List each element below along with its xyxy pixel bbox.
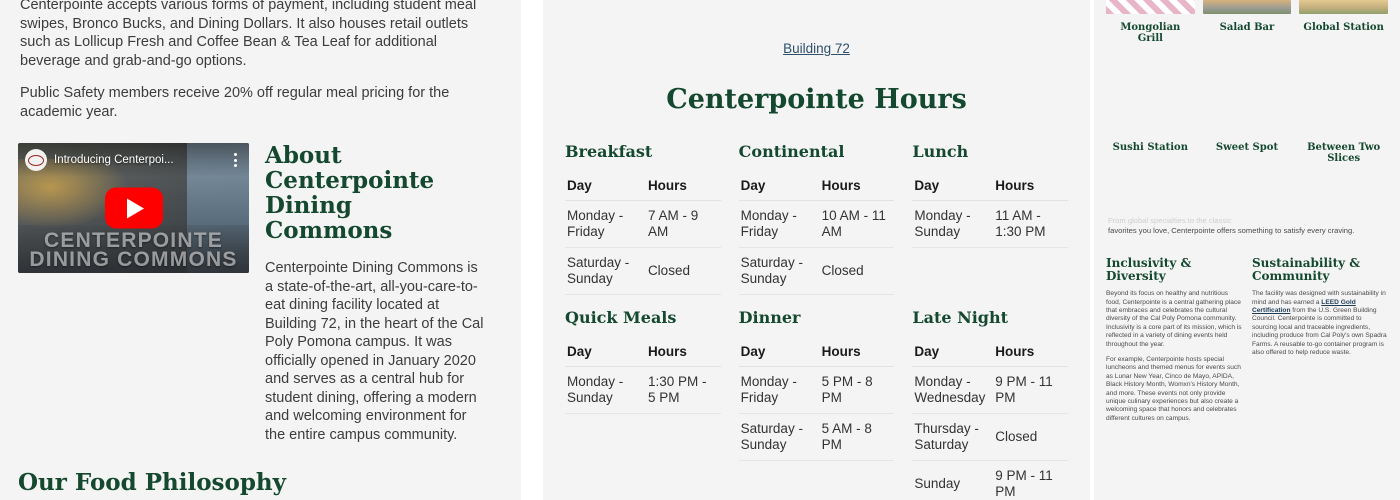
stations-blurb: From global specialties to the classic f… (1094, 216, 1400, 235)
food-philosophy-section: Our Food Philosophy (0, 470, 521, 495)
station-caption: Global Station (1299, 22, 1388, 33)
col-header-hours: Hours (820, 340, 895, 367)
table-row: Saturday - Sunday Closed (565, 248, 721, 295)
hours-table: Day Hours Monday - Friday 10 AM - 11 AM … (739, 174, 895, 295)
inclusivity-paragraph-2: For example, Centerpointe hosts special … (1106, 356, 1242, 423)
video-wordmark-line2: DINING COMMONS (18, 250, 249, 269)
col-header-day: Day (912, 340, 993, 367)
sustainability-text-after: from the U.S. Green Building Council. Ce… (1252, 307, 1387, 356)
cell-hours: 9 PM - 11 PM (993, 367, 1068, 414)
table-row: Monday - Friday 7 AM - 9 AM (565, 201, 721, 248)
video-wordmark: CENTERPOINTE DINING COMMONS (18, 231, 249, 269)
inclusivity-section: Inclusivity & Diversity Beyond its focus… (1106, 257, 1242, 430)
cell-day: Monday - Sunday (565, 367, 646, 414)
video-title: Introducing Centerpoi... (54, 154, 221, 166)
sustainability-title: Sustainability & Community (1252, 257, 1388, 283)
table-header-row: Day Hours (912, 174, 1068, 201)
table-row: Saturday - Sunday 5 AM - 8 PM (739, 414, 895, 461)
global-station-photo (1299, 0, 1388, 14)
table-row: Saturday - Sunday Closed (739, 248, 895, 295)
cell-day: Saturday - Sunday (565, 248, 646, 295)
cell-day: Monday - Friday (565, 201, 646, 248)
station-card[interactable]: Between Two Slices (1299, 142, 1388, 164)
col-header-hours: Hours (646, 174, 721, 201)
meal-block-lunch: Lunch Day Hours Monday - Sunday 11 AM - … (912, 143, 1068, 295)
channel-avatar-icon (25, 149, 47, 171)
play-icon[interactable] (105, 188, 163, 229)
about-body: Centerpointe Dining Commons is a state-o… (265, 259, 487, 444)
cell-day: Monday - Friday (739, 201, 820, 248)
meal-heading: Continental (739, 143, 895, 160)
table-row: Thursday - Saturday Closed (912, 414, 1068, 461)
table-row: Monday - Wednesday 9 PM - 11 PM (912, 367, 1068, 414)
table-header-row: Day Hours (739, 174, 895, 201)
sustainability-body: The facility was designed with sustainab… (1252, 290, 1388, 357)
video-wrapper: Introducing Centerpoi... CENTERPOINTE DI… (18, 143, 249, 444)
cell-day: Thursday - Saturday (912, 414, 993, 461)
lead-paragraph-public-safety: Public Safety members receive 20% off re… (20, 84, 501, 121)
cell-day: Monday - Wednesday (912, 367, 993, 414)
col-header-day: Day (565, 174, 646, 201)
table-header-row: Day Hours (565, 340, 721, 367)
sustainability-paragraph: The facility was designed with sustainab… (1252, 290, 1388, 357)
cell-day: Sunday (912, 461, 993, 500)
station-card[interactable]: Mongolian Grill (1106, 0, 1195, 44)
table-header-row: Day Hours (912, 340, 1068, 367)
values-columns: Inclusivity & Diversity Beyond its focus… (1094, 257, 1400, 430)
right-column: Mongolian Grill Salad Bar Global Station… (1094, 0, 1400, 500)
kebab-menu-icon[interactable] (228, 153, 242, 167)
col-header-day: Day (739, 174, 820, 201)
video-and-about-row: Introducing Centerpoi... CENTERPOINTE DI… (0, 143, 521, 444)
hours-table: Day Hours Monday - Wednesday 9 PM - 11 P… (912, 340, 1068, 500)
col-header-day: Day (739, 340, 820, 367)
center-column: Building 72 Centerpointe Hours Breakfast… (543, 0, 1090, 500)
col-header-hours: Hours (820, 174, 895, 201)
table-row: Sunday 9 PM - 11 PM (912, 461, 1068, 500)
centerpointe-hours-title: Centerpointe Hours (543, 84, 1090, 115)
inclusivity-body: Beyond its focus on healthy and nutritio… (1106, 290, 1242, 423)
cell-hours: Closed (646, 248, 721, 295)
hours-table: Day Hours Monday - Friday 5 PM - 8 PM Sa… (739, 340, 895, 461)
kebab-dot (234, 164, 237, 167)
meal-block-breakfast: Breakfast Day Hours Monday - Friday 7 AM… (565, 143, 721, 295)
cell-hours: 9 PM - 11 PM (993, 461, 1068, 500)
video-top-bar: Introducing Centerpoi... (18, 143, 249, 177)
mongolian-grill-photo (1106, 0, 1195, 14)
dining-page: Centerpointe accepts various forms of pa… (0, 0, 1400, 500)
meal-heading: Dinner (739, 309, 895, 326)
station-caption: Mongolian Grill (1106, 22, 1195, 44)
cell-hours: 11 AM - 1:30 PM (993, 201, 1068, 248)
meal-heading: Lunch (912, 143, 1068, 160)
meal-heading: Quick Meals (565, 309, 721, 326)
cell-hours: Closed (820, 248, 895, 295)
col-header-day: Day (565, 340, 646, 367)
left-column: Centerpointe accepts various forms of pa… (0, 0, 521, 500)
salad-bar-photo (1203, 0, 1292, 14)
col-header-day: Day (912, 174, 993, 201)
cell-day: Monday - Sunday (912, 201, 993, 248)
lead-paragraphs: Centerpointe accepts various forms of pa… (0, 0, 521, 121)
table-row: Monday - Friday 5 PM - 8 PM (739, 367, 895, 414)
station-caption: Salad Bar (1203, 22, 1292, 33)
stations-blurb-clipped-line: From global specialties to the classic (1108, 216, 1386, 226)
hours-table: Day Hours Monday - Sunday 11 AM - 1:30 P… (912, 174, 1068, 248)
table-row: Monday - Sunday 1:30 PM - 5 PM (565, 367, 721, 414)
sustainability-text-before: The facility was designed with sustainab… (1252, 290, 1386, 305)
table-row: Monday - Friday 10 AM - 11 AM (739, 201, 895, 248)
kebab-dot (234, 159, 237, 162)
table-row: Monday - Sunday 11 AM - 1:30 PM (912, 201, 1068, 248)
youtube-video-embed[interactable]: Introducing Centerpoi... CENTERPOINTE DI… (18, 143, 249, 273)
stations-row-2: Sushi Station Sweet Spot Between Two Sli… (1094, 142, 1400, 164)
about-section: About Centerpointe Dining Commons Center… (265, 143, 503, 444)
table-header-row: Day Hours (739, 340, 895, 367)
hours-table: Day Hours Monday - Friday 7 AM - 9 AM Sa… (565, 174, 721, 295)
cell-hours: Closed (993, 414, 1068, 461)
cell-hours: 5 AM - 8 PM (820, 414, 895, 461)
meal-block-quick-meals: Quick Meals Day Hours Monday - Sunday 1:… (565, 309, 721, 500)
cell-hours: 7 AM - 9 AM (646, 201, 721, 248)
column-gutter-left (521, 0, 543, 500)
station-card[interactable]: Sweet Spot (1203, 142, 1292, 164)
inclusivity-paragraph-1: Beyond its focus on healthy and nutritio… (1106, 290, 1242, 349)
cell-day: Saturday - Sunday (739, 248, 820, 295)
cell-hours: 5 PM - 8 PM (820, 367, 895, 414)
hours-table: Day Hours Monday - Sunday 1:30 PM - 5 PM (565, 340, 721, 414)
stations-blurb-text: favorites you love, Centerpointe offers … (1108, 226, 1386, 236)
kebab-dot (234, 153, 237, 156)
station-card[interactable]: Global Station (1299, 0, 1388, 44)
cell-hours: 10 AM - 11 AM (820, 201, 895, 248)
sustainability-section: Sustainability & Community The facility … (1252, 257, 1388, 430)
building-link-row: Building 72 (543, 0, 1090, 58)
cell-day: Saturday - Sunday (739, 414, 820, 461)
station-caption: Sweet Spot (1203, 142, 1292, 153)
cpp-seal-icon (28, 155, 44, 166)
meal-block-late-night: Late Night Day Hours Monday - Wednesday … (912, 309, 1068, 500)
food-philosophy-title: Our Food Philosophy (18, 470, 503, 495)
meal-heading: Late Night (912, 309, 1068, 326)
station-card[interactable]: Sushi Station (1106, 142, 1195, 164)
col-header-hours: Hours (993, 174, 1068, 201)
meal-block-continental: Continental Day Hours Monday - Friday 10… (739, 143, 895, 295)
hours-grid: Breakfast Day Hours Monday - Friday 7 AM… (543, 143, 1090, 500)
meal-block-dinner: Dinner Day Hours Monday - Friday 5 PM - … (739, 309, 895, 500)
meal-heading: Breakfast (565, 143, 721, 160)
stations-row-1: Mongolian Grill Salad Bar Global Station (1094, 0, 1400, 44)
about-title: About Centerpointe Dining Commons (265, 143, 487, 243)
station-caption: Sushi Station (1106, 142, 1195, 153)
inclusivity-title: Inclusivity & Diversity (1106, 257, 1242, 283)
building-72-link[interactable]: Building 72 (783, 41, 850, 56)
table-header-row: Day Hours (565, 174, 721, 201)
cell-day: Monday - Friday (739, 367, 820, 414)
col-header-hours: Hours (993, 340, 1068, 367)
col-header-hours: Hours (646, 340, 721, 367)
lead-paragraph-payment: Centerpointe accepts various forms of pa… (20, 0, 501, 70)
station-card[interactable]: Salad Bar (1203, 0, 1292, 44)
station-caption: Between Two Slices (1299, 142, 1388, 164)
cell-hours: 1:30 PM - 5 PM (646, 367, 721, 414)
